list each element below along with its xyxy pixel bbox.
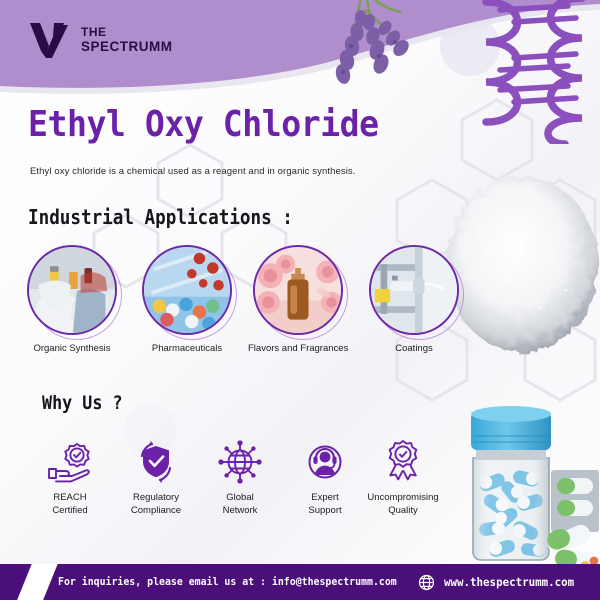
application-item[interactable]: Coatings: [364, 245, 464, 354]
application-image-flavors-fragrances: [253, 245, 343, 335]
globe-icon: [418, 574, 435, 591]
why-us-row: REACH Certified Regulatory: [0, 440, 470, 560]
award-ribbon-icon: [380, 439, 426, 485]
applications-heading: Industrial Applications :: [28, 205, 293, 229]
feature-label: Uncompromising Quality: [355, 492, 451, 518]
why-us-heading: Why Us ?: [42, 392, 123, 414]
footer-diagonal-accent: [12, 564, 61, 600]
applications-row: Organic Synthesis: [0, 245, 600, 365]
application-item[interactable]: Organic Synthesis: [22, 245, 122, 354]
brand-name-line2: SPECTRUMM: [81, 39, 173, 54]
footer-website-link[interactable]: www.thespectrumm.com: [444, 575, 574, 589]
feature-item-regulatory-compliance[interactable]: Regulatory Compliance: [108, 440, 204, 518]
page-title: Ethyl Oxy Chloride: [28, 104, 379, 145]
dna-helix-icon: [470, 0, 600, 144]
globe-network-icon: [218, 440, 262, 484]
brand-logo[interactable]: THE SPECTRUMM: [28, 20, 173, 60]
feature-item-uncompromising-quality[interactable]: Uncompromising Quality: [355, 440, 451, 518]
application-item[interactable]: Flavors and Fragrances: [248, 245, 348, 354]
feature-label: Regulatory Compliance: [108, 492, 204, 518]
application-label: Organic Synthesis: [22, 343, 122, 354]
feature-item-reach-certified[interactable]: REACH Certified: [22, 440, 118, 518]
brand-name-line1: THE: [81, 26, 173, 39]
application-image-coatings: [369, 245, 459, 335]
footer-bar: For inquiries, please email us at : info…: [0, 564, 600, 600]
shield-check-icon: [133, 440, 179, 484]
feature-label: REACH Certified: [22, 492, 118, 518]
application-label: Coatings: [364, 343, 464, 354]
footer-inquiry-text[interactable]: For inquiries, please email us at : info…: [58, 564, 397, 600]
application-image-organic-synthesis: [27, 245, 117, 335]
feature-label: Global Network: [192, 492, 288, 518]
application-label: Pharmaceuticals: [137, 343, 237, 354]
application-item[interactable]: Pharmaceuticals: [137, 245, 237, 354]
headset-support-icon: [303, 440, 347, 484]
feature-item-global-network[interactable]: Global Network: [192, 440, 288, 518]
infographic-poster: THE SPECTRUMM: [0, 0, 600, 600]
lavender-sprig-icon: [305, 0, 425, 101]
page-subtitle: Ethyl oxy chloride is a chemical used as…: [30, 166, 356, 177]
application-label: Flavors and Fragrances: [248, 343, 348, 354]
application-image-pharmaceuticals: [142, 245, 232, 335]
pill-jar-image: [455, 398, 600, 578]
spectrumm-w-mark-icon: [28, 20, 72, 60]
hand-certificate-icon: [47, 441, 93, 483]
